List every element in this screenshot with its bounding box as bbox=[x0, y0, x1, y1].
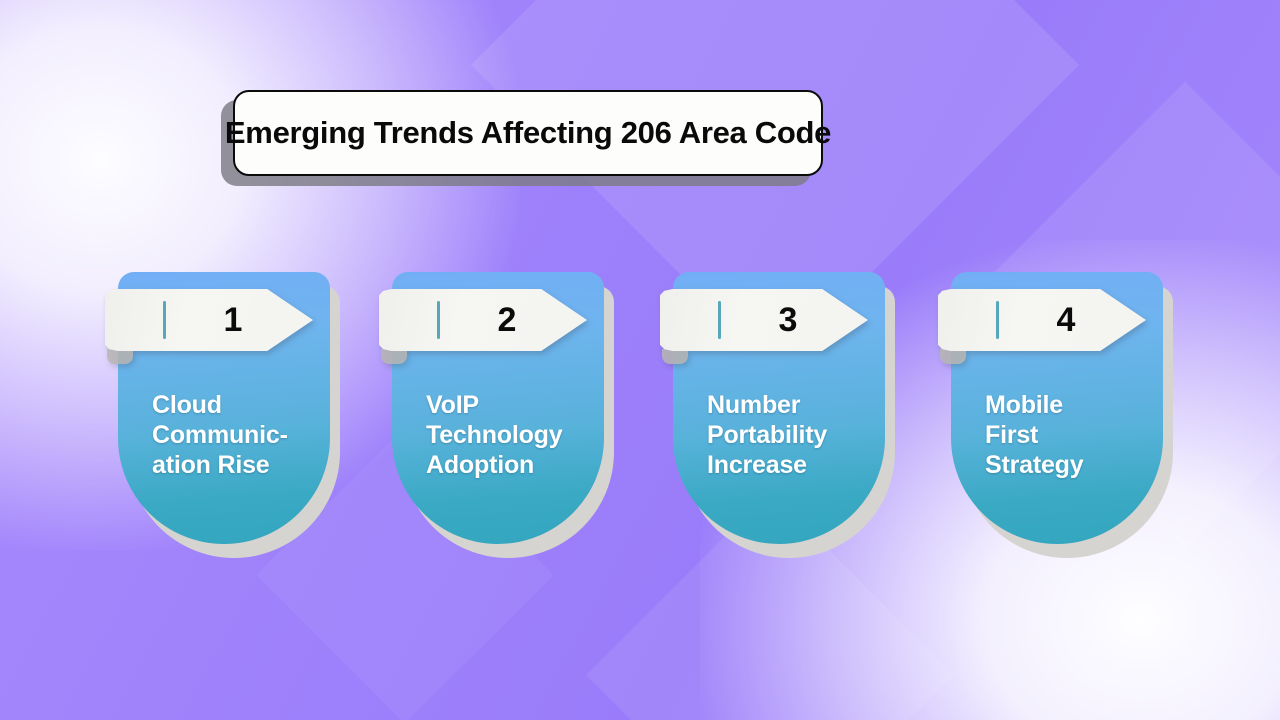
trend-card-3[interactable]: Number Portability Increase 3 bbox=[660, 272, 910, 572]
trend-card-number: 1 bbox=[197, 289, 269, 351]
ribbon-fold bbox=[940, 349, 966, 364]
trend-card-label: Cloud Communic- ation Rise bbox=[152, 390, 330, 480]
trend-card-label: VoIP Technology Adoption bbox=[426, 390, 604, 480]
accent-bar-icon bbox=[437, 301, 440, 339]
title-box: Emerging Trends Affecting 206 Area Code bbox=[233, 90, 823, 176]
trend-card-list: Cloud Communic- ation Rise 1 VoIP Techno… bbox=[0, 272, 1280, 572]
number-ribbon: 1 bbox=[105, 289, 313, 351]
number-ribbon: 4 bbox=[938, 289, 1146, 351]
infographic-canvas: Emerging Trends Affecting 206 Area Code … bbox=[0, 0, 1280, 720]
accent-bar-icon bbox=[163, 301, 166, 339]
trend-card-number: 2 bbox=[471, 289, 543, 351]
page-title: Emerging Trends Affecting 206 Area Code bbox=[225, 115, 831, 151]
trend-card-4[interactable]: Mobile First Strategy 4 bbox=[938, 272, 1188, 572]
accent-bar-icon bbox=[996, 301, 999, 339]
trend-card-1[interactable]: Cloud Communic- ation Rise 1 bbox=[105, 272, 355, 572]
number-ribbon: 2 bbox=[379, 289, 587, 351]
trend-card-label: Mobile First Strategy bbox=[985, 390, 1163, 480]
trend-card-2[interactable]: VoIP Technology Adoption 2 bbox=[379, 272, 629, 572]
page-title-banner: Emerging Trends Affecting 206 Area Code bbox=[233, 90, 823, 176]
trend-card-number: 4 bbox=[1030, 289, 1102, 351]
trend-card-number: 3 bbox=[752, 289, 824, 351]
accent-bar-icon bbox=[718, 301, 721, 339]
ribbon-fold bbox=[107, 349, 133, 364]
ribbon-fold bbox=[662, 349, 688, 364]
trend-card-label: Number Portability Increase bbox=[707, 390, 885, 480]
number-ribbon: 3 bbox=[660, 289, 868, 351]
ribbon-fold bbox=[381, 349, 407, 364]
